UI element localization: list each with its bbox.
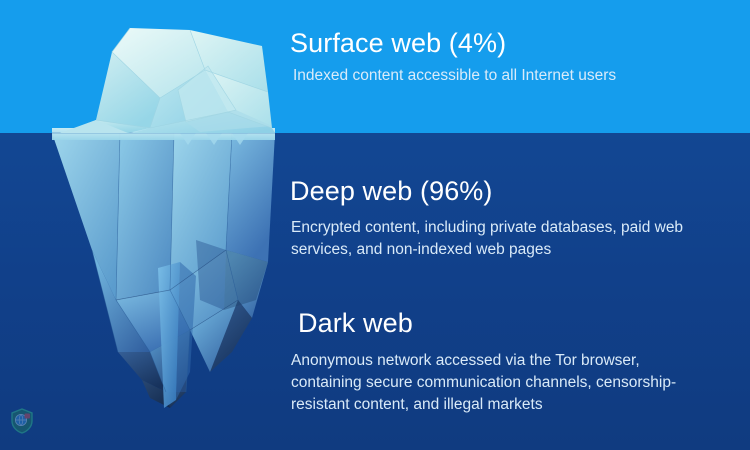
watermark-logo — [10, 408, 39, 434]
surface-web-heading: Surface web (4%) — [290, 28, 616, 59]
shield-globe-icon — [10, 408, 34, 434]
surface-web-description: Indexed content accessible to all Intern… — [293, 65, 616, 87]
dark-web-description: Anonymous network accessed via the Tor b… — [291, 350, 691, 416]
iceberg-below-water — [52, 133, 275, 408]
iceberg-above-water — [60, 28, 275, 133]
deep-web-text-block: Deep web (96%) Encrypted content, includ… — [290, 176, 702, 261]
deep-web-description: Encrypted content, including private dat… — [291, 217, 702, 261]
dark-web-text-block: Dark web Anonymous network accessed via … — [291, 308, 691, 416]
deep-web-heading: Deep web (96%) — [290, 176, 702, 207]
surface-web-text-block: Surface web (4%) Indexed content accessi… — [290, 28, 616, 87]
dark-web-heading: Dark web — [298, 308, 691, 339]
infographic-canvas: Surface web (4%) Indexed content accessi… — [0, 0, 750, 450]
